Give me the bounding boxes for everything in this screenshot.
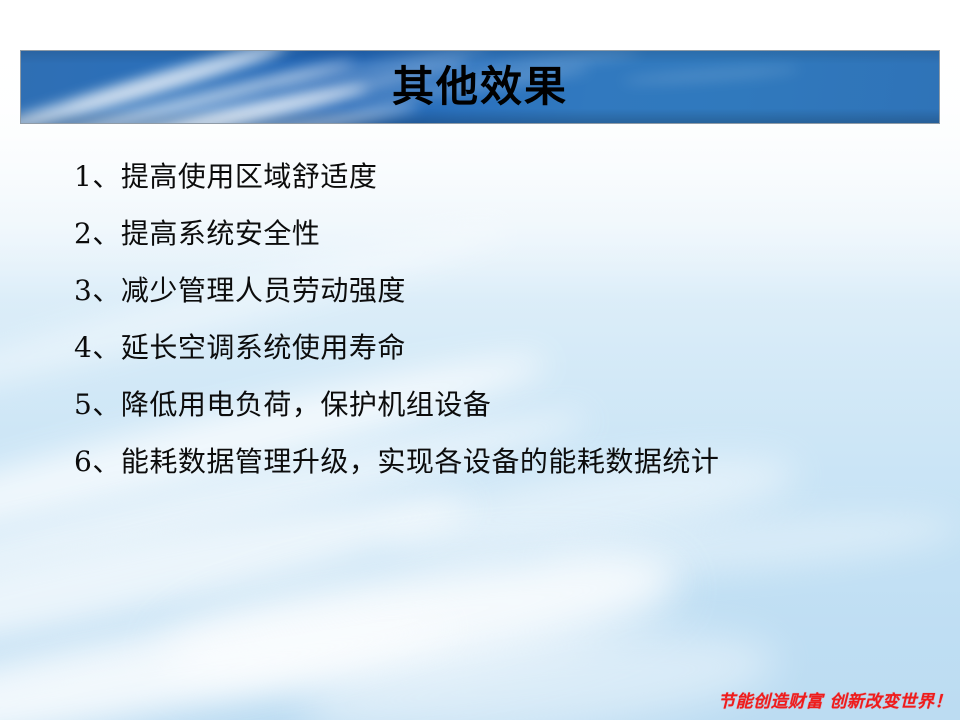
title-banner: 其他效果 <box>20 50 940 124</box>
bullet-item-3: 3、减少管理人员劳动强度 <box>74 262 934 319</box>
cloud-wisp <box>539 502 960 588</box>
presentation-slide: 其他效果 1、提高使用区域舒适度 2、提高系统安全性 3、减少管理人员劳动强度 … <box>0 0 960 720</box>
cloud-wisp <box>0 594 459 720</box>
cloud-wisp <box>154 524 686 715</box>
cloud-wisp <box>0 536 680 720</box>
footer-slogan: 节能创造财富 创新改变世界！ <box>718 687 952 712</box>
bullet-item-5: 5、降低用电负荷，保护机组设备 <box>74 376 934 433</box>
slide-title: 其他效果 <box>21 66 939 108</box>
bullet-list: 1、提高使用区域舒适度 2、提高系统安全性 3、减少管理人员劳动强度 4、延长空… <box>74 148 934 490</box>
bullet-item-4: 4、延长空调系统使用寿命 <box>74 319 934 376</box>
cloud-wisp <box>297 615 784 720</box>
bullet-item-6: 6、能耗数据管理升级，实现各设备的能耗数据统计 <box>74 433 934 490</box>
bullet-item-2: 2、提高系统安全性 <box>74 205 934 262</box>
cloud-wisp <box>0 470 479 696</box>
bullet-item-1: 1、提高使用区域舒适度 <box>74 148 934 205</box>
